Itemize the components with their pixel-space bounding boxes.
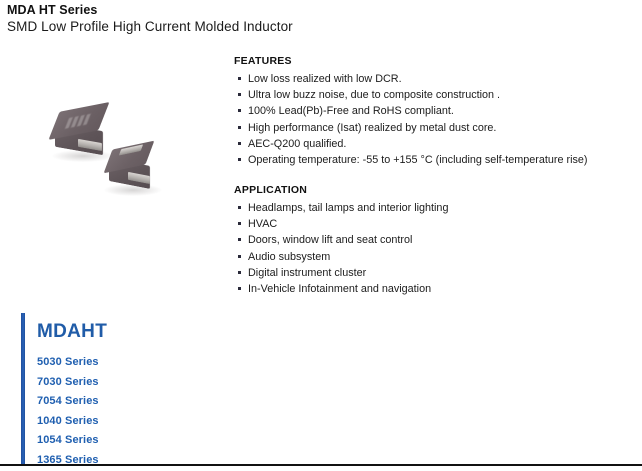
- page-subtitle: SMD Low Profile High Current Molded Indu…: [7, 18, 507, 35]
- list-item: Doors, window lift and seat control: [234, 232, 614, 248]
- list-item-label: In-Vehicle Infotainment and navigation: [248, 283, 431, 295]
- list-item: Operating temperature: -55 to +155 °C (i…: [234, 152, 614, 168]
- list-item: 100% Lead(Pb)-Free and RoHS compliant.: [234, 103, 614, 119]
- list-item-label: Digital instrument cluster: [248, 267, 366, 279]
- bullet-icon: [238, 142, 241, 145]
- list-item-label: Audio subsystem: [248, 251, 330, 263]
- list-item-label: HVAC: [248, 218, 277, 230]
- features-list: Low loss realized with low DCR. Ultra lo…: [234, 71, 614, 168]
- list-item-label: 100% Lead(Pb)-Free and RoHS compliant.: [248, 105, 454, 117]
- list-item-label: Ultra low buzz noise, due to composite c…: [248, 89, 500, 101]
- list-item: AEC-Q200 qualified.: [234, 136, 614, 152]
- list-item-label: AEC-Q200 qualified.: [248, 138, 346, 150]
- bullet-icon: [238, 238, 241, 241]
- series-navigation: MDAHT 5030 Series 7030 Series 7054 Serie…: [21, 313, 191, 466]
- bullet-icon: [238, 109, 241, 112]
- bullet-icon: [238, 77, 241, 80]
- series-item-1054[interactable]: 1054 Series: [37, 431, 99, 451]
- list-item: In-Vehicle Infotainment and navigation: [234, 281, 614, 297]
- page-header: MDA HT Series SMD Low Profile High Curre…: [7, 3, 507, 35]
- list-item: Low loss realized with low DCR.: [234, 71, 614, 87]
- list-item: Digital instrument cluster: [234, 265, 614, 281]
- series-list: 5030 Series 7030 Series 7054 Series 1040…: [37, 353, 99, 471]
- features-heading: FEATURES: [234, 55, 614, 67]
- bullet-icon: [238, 287, 241, 290]
- bullet-icon: [238, 271, 241, 274]
- application-list: Headlamps, tail lamps and interior light…: [234, 200, 614, 297]
- series-item-5030[interactable]: 5030 Series: [37, 353, 99, 373]
- series-group-title: MDAHT: [37, 321, 107, 343]
- list-item: HVAC: [234, 216, 614, 232]
- series-item-7030[interactable]: 7030 Series: [37, 373, 99, 393]
- list-item: Headlamps, tail lamps and interior light…: [234, 200, 614, 216]
- bullet-icon: [238, 222, 241, 225]
- bullet-icon: [238, 93, 241, 96]
- list-item: Ultra low buzz noise, due to composite c…: [234, 87, 614, 103]
- product-image: [40, 100, 200, 205]
- list-item-label: Operating temperature: -55 to +155 °C (i…: [248, 154, 588, 166]
- series-item-1040[interactable]: 1040 Series: [37, 412, 99, 432]
- list-item-label: Doors, window lift and seat control: [248, 234, 412, 246]
- list-item-label: High performance (Isat) realized by meta…: [248, 122, 496, 134]
- list-item: High performance (Isat) realized by meta…: [234, 120, 614, 136]
- series-item-1365[interactable]: 1365 Series: [37, 451, 99, 471]
- features-section: FEATURES Low loss realized with low DCR.…: [234, 55, 614, 168]
- list-item: Audio subsystem: [234, 249, 614, 265]
- application-section: APPLICATION Headlamps, tail lamps and in…: [234, 184, 614, 297]
- list-item-label: Low loss realized with low DCR.: [248, 73, 402, 85]
- molded-inductor-small-image: [102, 144, 164, 196]
- list-item-label: Headlamps, tail lamps and interior light…: [248, 202, 448, 214]
- application-heading: APPLICATION: [234, 184, 614, 196]
- bullet-icon: [238, 158, 241, 161]
- bullet-icon: [238, 126, 241, 129]
- page-title: MDA HT Series: [7, 3, 507, 18]
- bullet-icon: [238, 255, 241, 258]
- accent-bar: [21, 313, 25, 466]
- bullet-icon: [238, 206, 241, 209]
- series-item-7054[interactable]: 7054 Series: [37, 392, 99, 412]
